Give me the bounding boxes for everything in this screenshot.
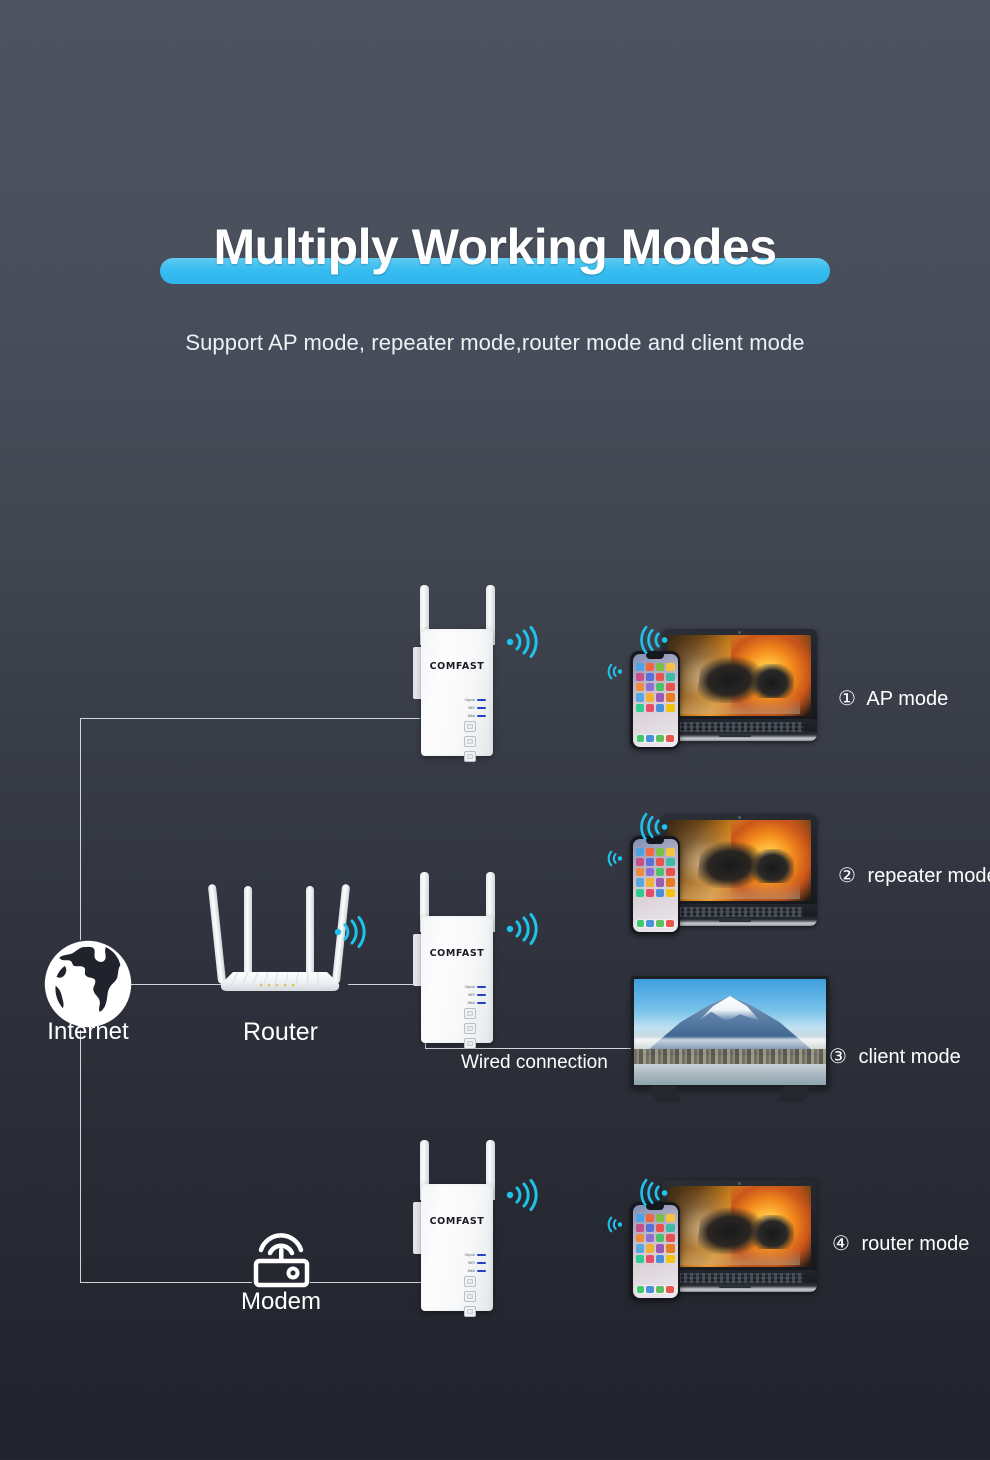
extender-port-group — [464, 1008, 476, 1053]
mode-label-ap: ① AP mode — [838, 686, 948, 711]
wifi-signal-icon-router-mode — [505, 1178, 539, 1217]
led-indicator-web — [477, 1002, 486, 1005]
laptop-camera-icon — [738, 816, 741, 819]
wire-internet-to-modem — [80, 1282, 252, 1283]
tv-stand-left — [650, 1086, 682, 1102]
smartphone-screen — [633, 654, 678, 747]
smartphone-icon-router — [630, 1202, 680, 1300]
mode-text-repeater: repeater mode — [868, 865, 990, 887]
extender-port — [464, 1023, 476, 1034]
laptop-keyboard — [666, 722, 803, 732]
laptop-touchpad — [719, 733, 751, 737]
comfast-extender-router: COMFAST Signal WiFi Web — [408, 1140, 508, 1320]
led-label-web: Web — [455, 713, 477, 719]
led-indicator-wifi — [477, 707, 486, 710]
title-wrap: Multiply Working Modes — [213, 218, 776, 276]
laptop-touchpad — [719, 918, 751, 922]
wifi-signal-icon-ap — [505, 625, 539, 664]
laptop-lid — [662, 1180, 817, 1272]
extender-port — [464, 1276, 476, 1287]
wire-internet-to-ap — [80, 718, 420, 719]
extender-port-group — [464, 1276, 476, 1321]
led-label-signal: Signal — [455, 697, 477, 703]
mode-number-client: ③ — [829, 1046, 847, 1068]
laptop-keyboard — [666, 907, 803, 917]
page-subtitle: Support AP mode, repeater mode,router mo… — [0, 330, 990, 356]
laptop-lid — [662, 629, 817, 721]
smartphone-dock — [636, 919, 675, 928]
laptop-touchpad — [719, 1284, 751, 1288]
laptop-camera-icon — [738, 1182, 741, 1185]
led-label-signal: Signal — [455, 1252, 477, 1258]
wifi-signal-icon-phone-router — [602, 1214, 623, 1240]
extender-led-panel: Signal WiFi Web — [455, 984, 491, 1008]
modem-icon — [248, 1228, 314, 1290]
mode-label-repeater: ② repeater mode — [838, 863, 990, 888]
tv-frame — [631, 976, 829, 1088]
laptop-screen — [668, 1186, 811, 1267]
led-indicator-web — [477, 1270, 486, 1273]
led-label-web: Web — [455, 1000, 477, 1006]
smartphone-notch — [646, 1205, 664, 1210]
extender-port — [464, 1306, 476, 1317]
extender-led-panel: Signal WiFi Web — [455, 1252, 491, 1276]
modem-label: Modem — [200, 1288, 362, 1316]
globe-icon — [43, 939, 133, 1029]
wifi-signal-icon-repeater — [505, 912, 539, 951]
mode-text-router: router mode — [862, 1233, 970, 1255]
led-indicator-web — [477, 715, 486, 718]
smartphone-screen — [633, 1205, 678, 1298]
led-indicator-signal — [477, 986, 486, 989]
smartphone-icon-repeater — [630, 836, 680, 934]
mode-text-ap: AP mode — [866, 688, 948, 710]
wire-internet-spine-down — [80, 1030, 81, 1282]
header-section: Multiply Working Modes — [0, 0, 990, 276]
comfast-extender-repeater: COMFAST Signal WiFi Web — [408, 872, 508, 1052]
tv-stand-right — [778, 1086, 810, 1102]
laptop-camera-icon — [738, 631, 741, 634]
mode-number-router: ④ — [832, 1233, 850, 1255]
mode-number-repeater: ② — [838, 865, 856, 887]
smartphone-dock — [636, 1285, 675, 1294]
extender-port — [464, 1008, 476, 1019]
page-title: Multiply Working Modes — [213, 218, 776, 276]
comfast-extender-ap: COMFAST Signal WiFi Web — [408, 585, 508, 765]
laptop-screen — [668, 820, 811, 901]
wifi-signal-icon-phone-ap — [602, 661, 623, 687]
smartphone-notch — [646, 839, 664, 844]
smartphone-screen — [633, 839, 678, 932]
extender-brand-logo: COMFAST — [421, 948, 493, 959]
extender-port — [464, 736, 476, 747]
mode-number-ap: ① — [838, 688, 856, 710]
extender-body — [421, 629, 493, 756]
laptop-lid — [662, 814, 817, 906]
led-label-wifi: WiFi — [455, 992, 477, 998]
smartphone-notch — [646, 654, 664, 659]
extender-body — [421, 1184, 493, 1311]
wired-connection-label: Wired connection — [461, 1052, 608, 1074]
smartphone-app-grid — [636, 848, 675, 897]
smartphone-body — [630, 651, 680, 749]
extender-port — [464, 751, 476, 762]
led-indicator-wifi — [477, 994, 486, 997]
led-indicator-wifi — [477, 1262, 486, 1265]
mode-text-client: client mode — [859, 1046, 961, 1068]
wifi-signal-icon-router — [333, 915, 367, 954]
smartphone-app-grid — [636, 663, 675, 712]
led-label-wifi: WiFi — [455, 705, 477, 711]
extender-port — [464, 1291, 476, 1302]
extender-port-group — [464, 721, 476, 766]
extender-led-panel: Signal WiFi Web — [455, 697, 491, 721]
router-label: Router — [193, 1018, 368, 1047]
led-label-web: Web — [455, 1268, 477, 1274]
tv-screen — [634, 979, 826, 1085]
smartphone-app-grid — [636, 1214, 675, 1263]
wire-internet-spine-up — [80, 718, 81, 940]
television-icon — [631, 976, 829, 1104]
led-label-signal: Signal — [455, 984, 477, 990]
mode-label-router: ④ router mode — [832, 1231, 969, 1256]
extender-brand-logo: COMFAST — [421, 1216, 493, 1227]
wifi-signal-icon-phone-repeater — [602, 848, 623, 874]
extender-body — [421, 916, 493, 1043]
smartphone-body — [630, 836, 680, 934]
extender-port — [464, 721, 476, 732]
mode-label-client: ③ client mode — [829, 1044, 961, 1069]
extender-port — [464, 1038, 476, 1049]
led-indicator-signal — [477, 1254, 486, 1257]
smartphone-body — [630, 1202, 680, 1300]
led-indicator-signal — [477, 699, 486, 702]
smartphone-icon-ap — [630, 651, 680, 749]
internet-label: Internet — [0, 1018, 176, 1046]
laptop-screen — [668, 635, 811, 716]
extender-brand-logo: COMFAST — [421, 661, 493, 672]
laptop-keyboard — [666, 1273, 803, 1283]
smartphone-dock — [636, 734, 675, 743]
led-label-wifi: WiFi — [455, 1260, 477, 1266]
